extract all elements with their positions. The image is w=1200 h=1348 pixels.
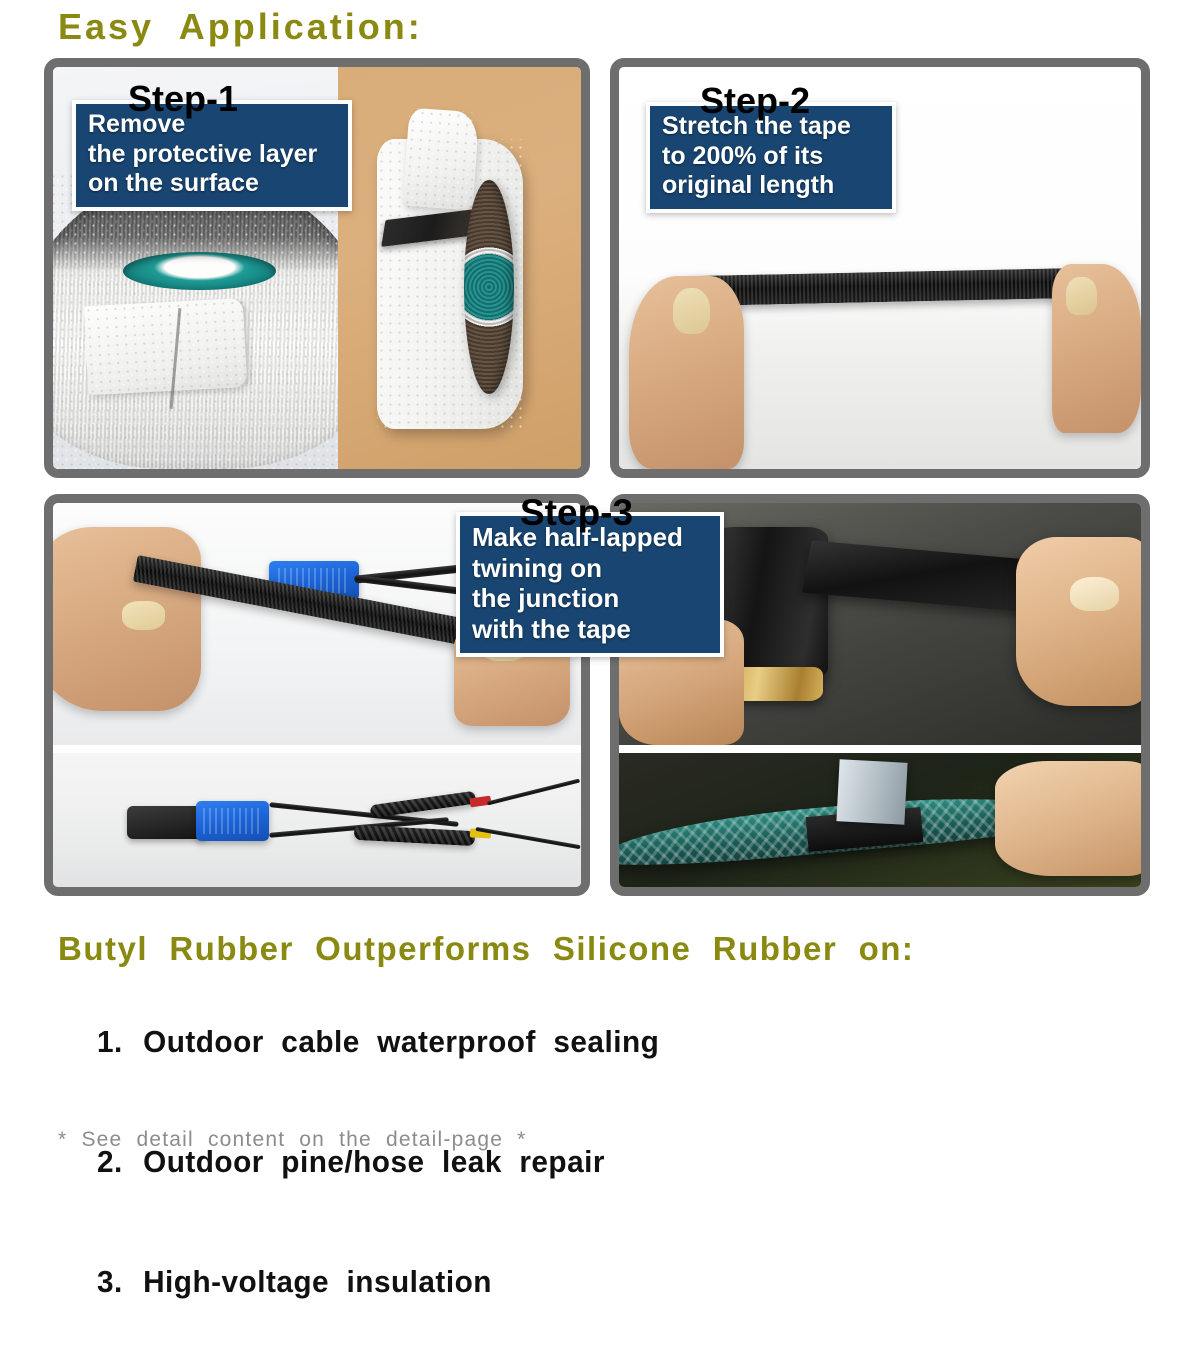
tape-roll-top-icon	[53, 172, 338, 469]
tape-being-pulled-icon	[837, 759, 908, 824]
protective-film-peel-icon	[403, 108, 480, 211]
footnote: * See detail content on the detail-page …	[58, 1128, 527, 1152]
tape-roll-edge-icon	[464, 180, 514, 394]
step-3-tag: Step-3	[520, 492, 633, 534]
step-1-caption-line-2: the protective layer	[88, 140, 338, 170]
taped-joint-icon	[369, 791, 475, 819]
step-1-tag: Step-1	[128, 78, 238, 120]
step-2-caption-line-2: to 200% of its	[662, 142, 882, 172]
stretched-tape-icon	[687, 268, 1084, 306]
hand-icon	[995, 761, 1141, 876]
taped-joint-icon	[354, 825, 476, 846]
benefit-text-1: Outdoor cable waterproof sealing	[143, 1024, 659, 1059]
peel-texture-icon	[403, 108, 480, 211]
step-3-photo-garden-hose	[619, 749, 1141, 887]
tape-roll-side-icon	[377, 139, 523, 428]
left-hand-icon	[629, 276, 744, 469]
wire-icon	[476, 827, 581, 849]
step-2-tag: Step-2	[700, 80, 810, 122]
right-hand-icon	[1016, 537, 1141, 706]
thumbnail-icon	[1070, 577, 1119, 611]
benefits-title: Butyl Rubber Outperforms Silicone Rubber…	[58, 930, 914, 968]
right-thumbnail-icon	[1066, 277, 1096, 314]
page-title: Easy Application:	[58, 6, 423, 48]
step-1-caption-line-3: on the surface	[88, 169, 338, 199]
tape-core-icon	[123, 252, 276, 291]
step-2-caption-line-3: original length	[662, 171, 882, 201]
step-1-photo-roll-side	[338, 67, 581, 469]
step-3-caption-line-4: with the tape	[472, 614, 710, 645]
left-fingernail-icon	[122, 601, 165, 630]
cable-plug-icon	[127, 806, 206, 838]
left-hand-icon	[53, 527, 201, 711]
benefit-item-1: 1.Outdoor cable waterproof sealing	[62, 988, 1099, 1096]
benefit-text-3: High-voltage insulation	[143, 1264, 492, 1299]
step-3-caption-line-3: the junction	[472, 583, 710, 614]
step-3-photo-finished-assembly	[53, 749, 581, 887]
benefit-number-1: 1.	[97, 1024, 143, 1060]
blue-connector-icon	[196, 801, 270, 841]
benefit-number-3: 3.	[97, 1264, 143, 1300]
right-hand-icon	[1052, 264, 1141, 433]
benefit-item-3: 3.High-voltage insulation	[62, 1228, 1099, 1336]
wire-icon	[487, 779, 580, 806]
tape-flap-texture-icon	[84, 298, 247, 395]
benefits-list: 1.Outdoor cable waterproof sealing 2.Out…	[62, 988, 1142, 1348]
left-thumbnail-icon	[673, 288, 710, 334]
tape-flap-icon	[84, 298, 249, 396]
step-3-caption-line-2: twining on	[472, 553, 710, 584]
